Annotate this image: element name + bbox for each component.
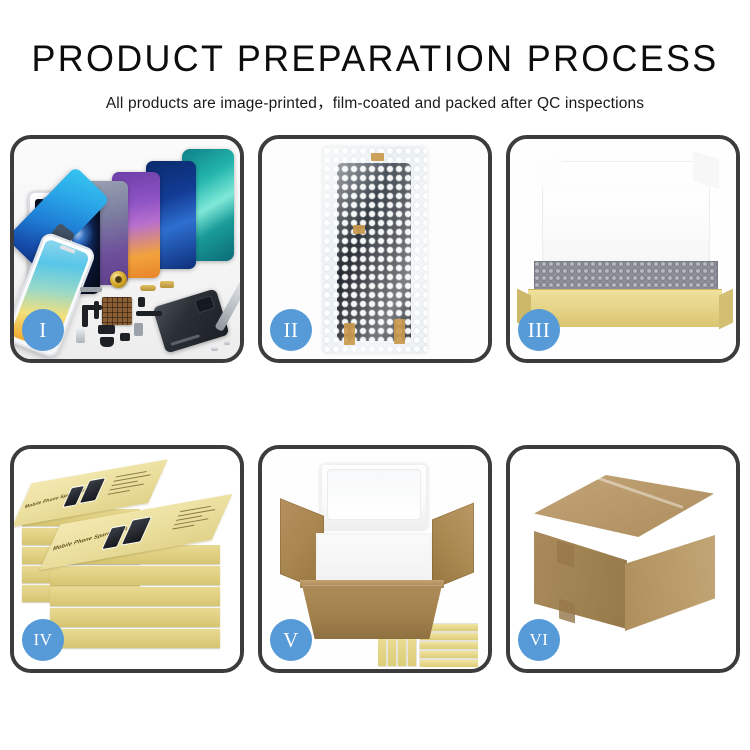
tape-strip [344,323,355,345]
carton-top-face [534,475,714,537]
tape-strip [394,319,405,344]
spare-part [82,305,102,310]
process-step-panel-6[interactable]: VI [506,445,740,673]
spare-part [94,301,99,319]
spare-part [136,311,162,316]
carton-left-face [534,531,627,629]
stacked-box [50,629,220,648]
wrapped-phone-screen [337,163,411,341]
box-lid-text-block [104,469,156,502]
carton-front-wall [302,585,442,639]
carton-right-face [625,535,715,631]
step-badge-6: VI [518,619,560,661]
process-step-panel-3[interactable]: III [506,135,740,363]
foam-box-lid [320,463,428,529]
spare-part [98,325,115,334]
step-badge-5: V [270,619,312,661]
page-subtitle: All products are image-printed，film-coat… [0,91,750,113]
process-step-panel-4[interactable]: Mobile Phone Spare Parts Mobile Phone Sp… [10,445,244,673]
spare-part [100,337,114,347]
spare-part [134,323,143,336]
spare-part [120,333,130,341]
stacked-box [50,566,220,585]
screen-flex-cable [367,233,380,329]
bubble-wrap-bag [323,147,427,353]
gold-coil-part [110,271,127,288]
process-step-panel-1[interactable]: I [10,135,244,363]
step-badge-3: III [518,309,560,351]
spare-part [76,329,85,343]
step-badge-4: IV [22,619,64,661]
box-lid-text-block [169,504,221,537]
process-step-grid: I II III [5,135,745,673]
step-badge-1: I [22,309,64,351]
spare-part [211,347,218,351]
tape-strip [353,225,365,234]
tape-strip [371,153,384,161]
spare-part [140,285,156,291]
foam-back-sheet [544,193,708,265]
page-title: PRODUCT PREPARATION PROCESS [11,38,739,80]
step-badge-2: II [270,309,312,351]
spare-part [80,287,102,292]
stacked-box [50,608,220,627]
chip-array-part [102,297,132,325]
process-step-panel-5[interactable]: V [258,445,492,673]
spare-part [224,341,230,345]
stacked-box [50,587,220,606]
carton-flap-right [432,503,474,590]
process-step-panel-2[interactable]: II [258,135,492,363]
spare-part [138,297,145,307]
page-header: PRODUCT PREPARATION PROCESS All products… [0,0,750,113]
spare-part [160,281,174,288]
carton-tape-patch [559,599,575,624]
